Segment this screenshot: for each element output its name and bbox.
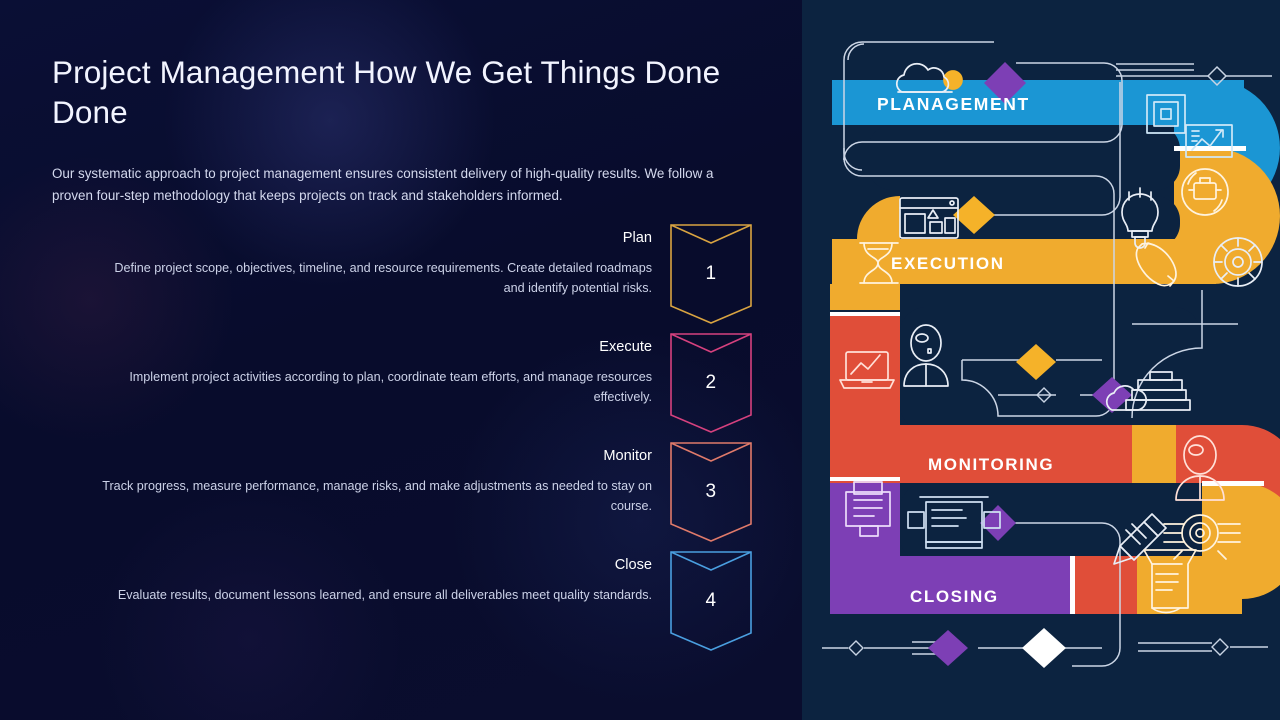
step-item-4[interactable]: Close Evaluate results, document lessons… bbox=[52, 555, 762, 664]
purple-diamond-icon bbox=[928, 630, 968, 666]
white-diamond-icon bbox=[1022, 628, 1066, 668]
band-label-planagement: PLANAGEMENT bbox=[877, 94, 1030, 114]
step-description-4: Evaluate results, document lessons learn… bbox=[92, 586, 652, 606]
diamond-outline-icon bbox=[849, 641, 863, 655]
step-text-4: Close Evaluate results, document lessons… bbox=[92, 555, 652, 606]
page-title: Project Management How We Get Things Don… bbox=[52, 52, 752, 133]
step-number-4: 4 bbox=[670, 551, 752, 651]
step-number-3: 3 bbox=[670, 442, 752, 542]
step-title-4: Close bbox=[92, 555, 652, 575]
step-marker-2[interactable]: 2 bbox=[670, 333, 752, 433]
cutout-row2 bbox=[900, 307, 1200, 431]
step-title-3: Monitor bbox=[92, 446, 652, 466]
page-subtitle: Our systematic approach to project manag… bbox=[52, 163, 732, 206]
band-label-monitoring: MONITORING bbox=[928, 455, 1054, 474]
step-item-3[interactable]: Monitor Track progress, measure performa… bbox=[52, 446, 762, 555]
step-description-1: Define project scope, objectives, timeli… bbox=[92, 259, 652, 299]
step-title-1: Plan bbox=[92, 228, 652, 248]
step-item-1[interactable]: Plan Define project scope, objectives, t… bbox=[52, 228, 762, 337]
step-marker-3[interactable]: 3 bbox=[670, 442, 752, 542]
step-title-2: Execute bbox=[92, 337, 652, 357]
step-text-1: Plan Define project scope, objectives, t… bbox=[92, 228, 652, 299]
band-label-closing: CLOSING bbox=[910, 587, 999, 606]
step-number-2: 2 bbox=[670, 333, 752, 433]
infographic-panel: PLANAGEMENT EXECUTION MONITORING CLOSING bbox=[802, 0, 1280, 720]
step-description-3: Track progress, measure performance, man… bbox=[92, 477, 652, 517]
step-item-2[interactable]: Execute Implement project activities acc… bbox=[52, 337, 762, 446]
step-marker-4[interactable]: 4 bbox=[670, 551, 752, 651]
cutout-row1 bbox=[868, 125, 1180, 190]
left-content-panel: Project Management How We Get Things Don… bbox=[0, 0, 802, 720]
step-text-3: Monitor Track progress, measure performa… bbox=[92, 446, 652, 517]
slide-root: Project Management How We Get Things Don… bbox=[0, 0, 1280, 720]
steps-list: Plan Define project scope, objectives, t… bbox=[52, 228, 762, 664]
band-label-execution: EXECUTION bbox=[891, 254, 1005, 273]
diamond-outline-icon bbox=[1212, 639, 1228, 655]
step-text-2: Execute Implement project activities acc… bbox=[92, 337, 652, 408]
decor-lines-top bbox=[1116, 64, 1272, 76]
step-description-2: Implement project activities according t… bbox=[92, 368, 652, 408]
process-serpentine-diagram: PLANAGEMENT EXECUTION MONITORING CLOSING bbox=[802, 0, 1280, 720]
step-number-1: 1 bbox=[670, 224, 752, 324]
step-marker-1[interactable]: 1 bbox=[670, 224, 752, 324]
snake-bands bbox=[830, 80, 1280, 614]
